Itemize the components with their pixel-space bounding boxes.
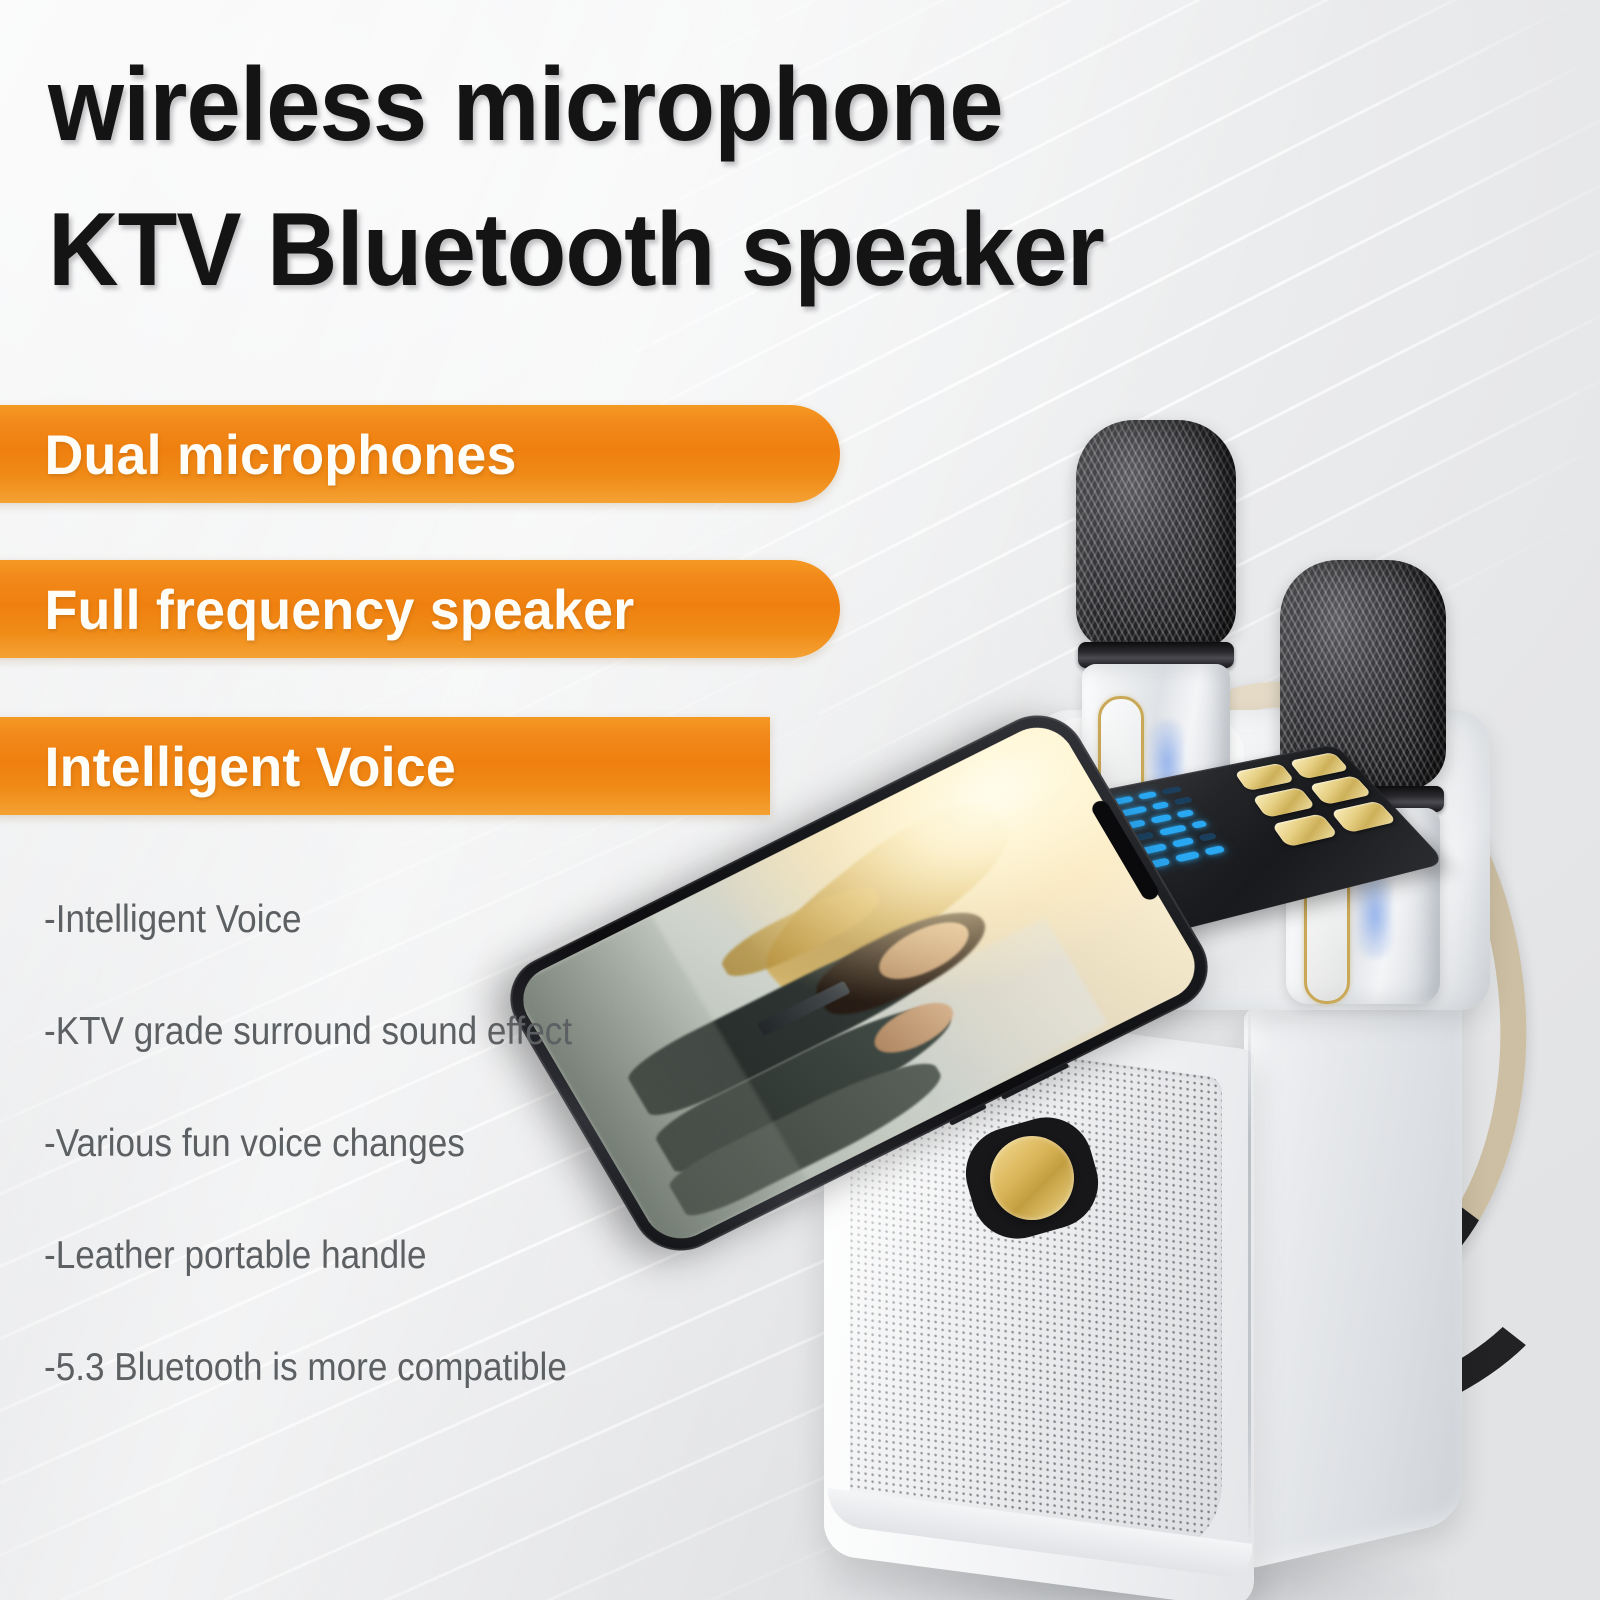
led-bar xyxy=(1138,791,1158,800)
bullet-item: -KTV grade surround sound effect xyxy=(44,1012,572,1051)
microphone-mesh-head xyxy=(1076,420,1236,650)
control-button-3[interactable] xyxy=(1252,787,1316,818)
feature-banner-label: Intelligent Voice xyxy=(0,734,456,799)
feature-banner-full-frequency-speaker: Full frequency speaker xyxy=(0,560,840,658)
speaker-side-panel xyxy=(1244,960,1462,1570)
led-bar xyxy=(1151,801,1169,810)
led-bar-dim xyxy=(1161,786,1182,795)
control-button-1[interactable] xyxy=(1234,763,1295,791)
feature-banner-intelligent-voice: Intelligent Voice xyxy=(0,717,770,815)
bullet-item: -Intelligent Voice xyxy=(44,900,572,939)
led-bar xyxy=(1176,809,1195,818)
control-button-4[interactable] xyxy=(1309,775,1373,805)
product-marketing-image: wireless microphone KTV Bluetooth speake… xyxy=(0,0,1600,1600)
bullet-item: -Various fun voice changes xyxy=(44,1124,572,1163)
control-button-2[interactable] xyxy=(1289,752,1350,779)
led-bar xyxy=(1159,824,1188,836)
headline-line-2: KTV Bluetooth speaker xyxy=(48,189,1270,312)
headline-line-1: wireless microphone xyxy=(48,44,1270,167)
bullet-item: -Leather portable handle xyxy=(44,1236,572,1275)
headline-block: wireless microphone KTV Bluetooth speake… xyxy=(48,44,1348,311)
bullet-item: -5.3 Bluetooth is more compatible xyxy=(44,1348,572,1387)
handle-gold-anchor-disc xyxy=(990,1136,1074,1220)
led-bar-dim xyxy=(1198,832,1217,842)
feature-banner-label: Full frequency speaker xyxy=(0,577,634,642)
led-bar xyxy=(1175,851,1201,863)
led-bar xyxy=(1171,837,1194,848)
led-bar xyxy=(1150,814,1172,824)
control-button-5[interactable] xyxy=(1271,813,1339,847)
led-bar xyxy=(1204,845,1226,855)
led-bar-dim xyxy=(1173,796,1193,805)
product-image-karaoke-speaker xyxy=(700,380,1600,1600)
microphone-blue-led-glow xyxy=(1358,872,1392,958)
led-bar xyxy=(1191,820,1208,829)
feature-bullet-list: -Intelligent Voice -KTV grade surround s… xyxy=(44,900,631,1460)
feature-banner-dual-microphones: Dual microphones xyxy=(0,405,840,503)
speaker-corner-seam xyxy=(1248,1006,1251,1547)
feature-banner-label: Dual microphones xyxy=(0,422,517,487)
control-button-6[interactable] xyxy=(1330,801,1397,834)
